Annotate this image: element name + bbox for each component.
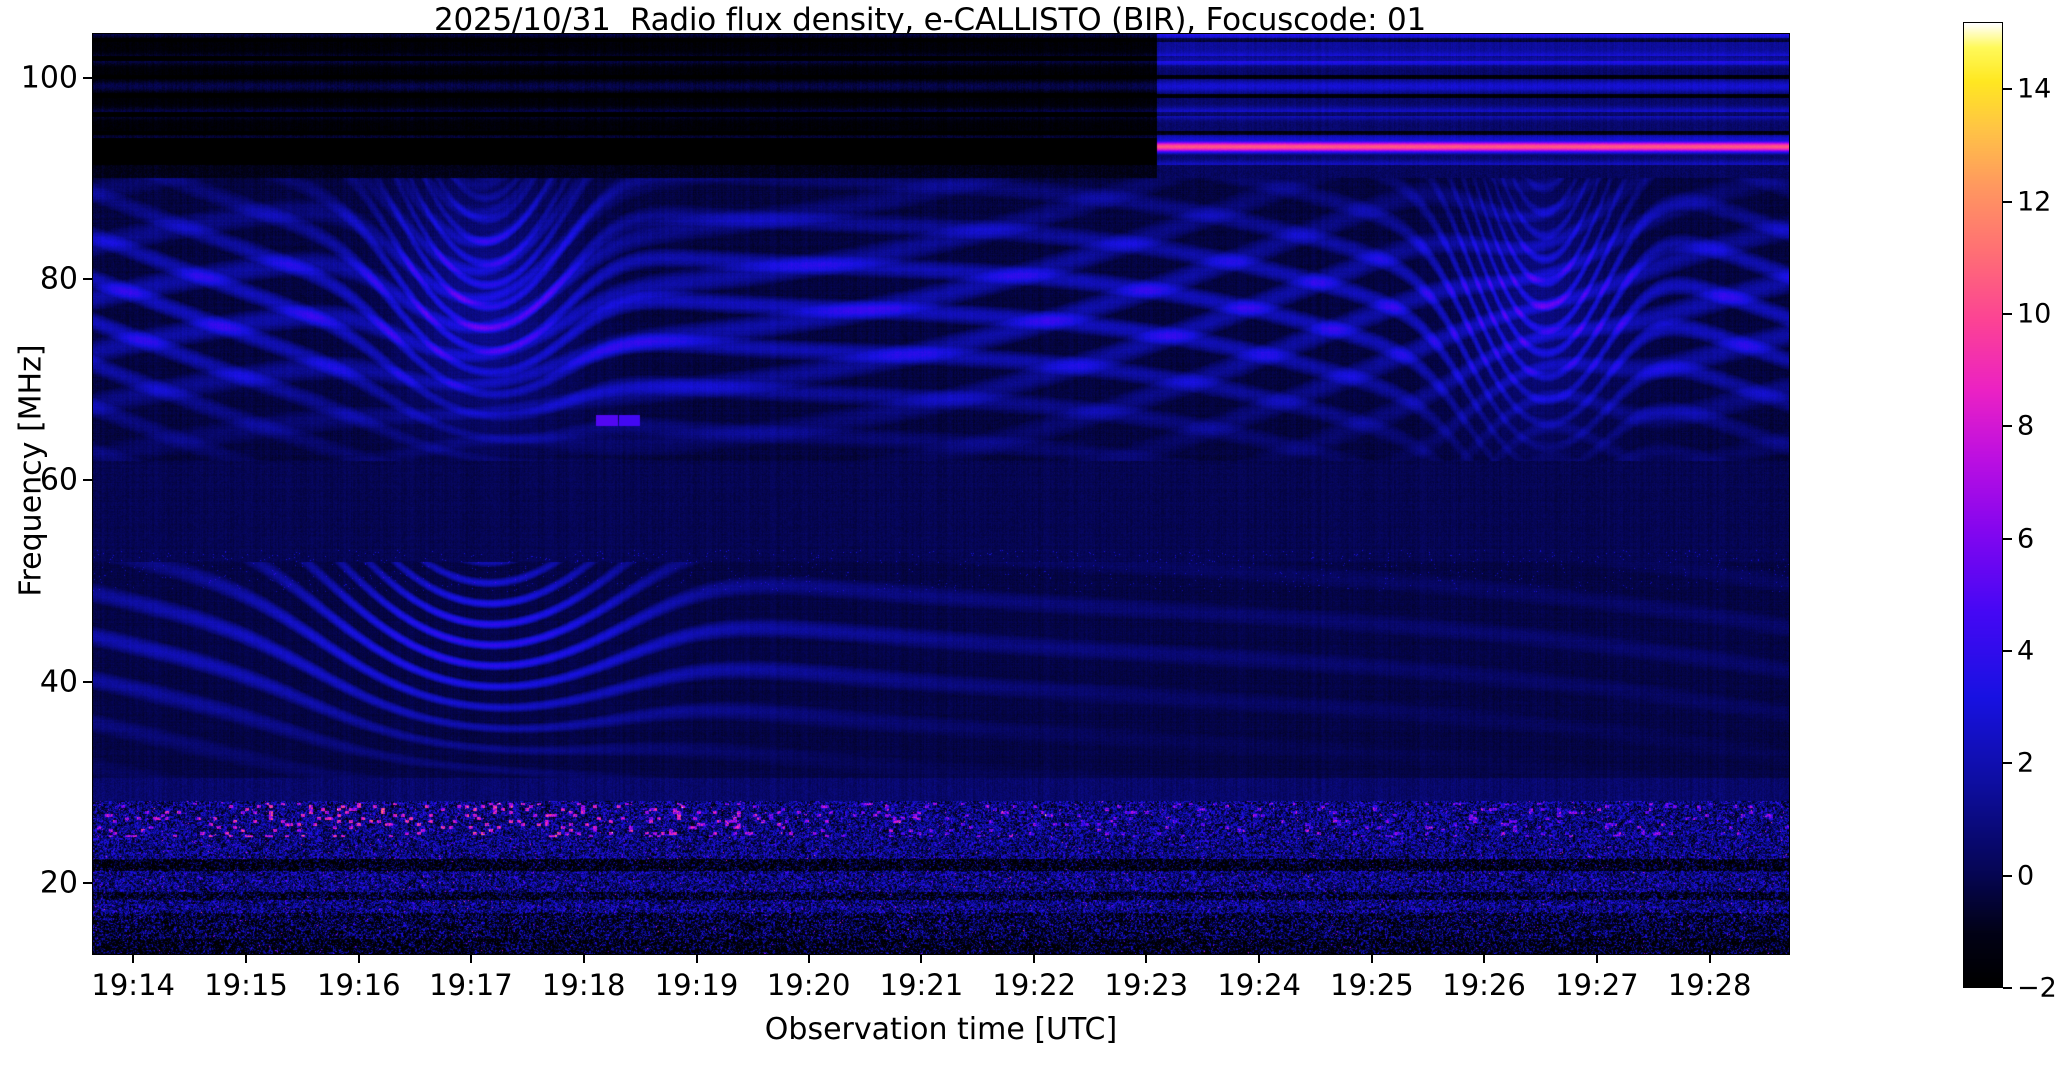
x-tick-label: 19:17 [429, 968, 513, 1002]
y-tick-mark [83, 278, 92, 280]
y-axis-label: Frequency [MHz] [14, 41, 49, 901]
x-tick-mark [1371, 954, 1373, 963]
y-tick-mark [83, 681, 92, 683]
x-tick-label: 19:20 [767, 968, 851, 1002]
x-tick-label: 19:18 [542, 968, 626, 1002]
x-tick-mark [1258, 954, 1260, 963]
x-tick-mark [808, 954, 810, 963]
spectrogram-image[interactable] [93, 34, 1789, 954]
colorbar-tick-mark [2003, 538, 2012, 540]
colorbar-tick-mark [2003, 875, 2012, 877]
colorbar-tick-mark [2003, 88, 2012, 90]
colorbar-tick-label: 6 [2017, 523, 2034, 554]
x-tick-label: 19:21 [880, 968, 964, 1002]
x-tick-label: 19:15 [204, 968, 288, 1002]
y-tick-mark [83, 882, 92, 884]
x-tick-mark [470, 954, 472, 963]
x-tick-mark [1145, 954, 1147, 963]
colorbar-tick-label: 10 [2017, 299, 2051, 330]
x-tick-mark [1033, 954, 1035, 963]
colorbar-tick-label: 12 [2017, 186, 2051, 217]
x-tick-mark [132, 954, 134, 963]
colorbar-tick-mark [2003, 201, 2012, 203]
x-tick-label: 19:26 [1442, 968, 1526, 1002]
colorbar-tick-label: 0 [2017, 860, 2034, 891]
x-tick-label: 19:25 [1330, 968, 1414, 1002]
x-tick-mark [1596, 954, 1598, 963]
x-tick-mark [583, 954, 585, 963]
x-tick-mark [1709, 954, 1711, 963]
colorbar-tick-label: 14 [2017, 74, 2051, 105]
colorbar-axis: 14121086420−2 [1963, 22, 2066, 988]
x-tick-mark [920, 954, 922, 963]
colorbar-tick-mark [2003, 987, 2012, 989]
figure-root: 2025/10/31 Radio flux density, e-CALLIST… [0, 0, 2066, 1067]
spectrogram-axes[interactable] [92, 33, 1790, 955]
x-tick-label: 19:22 [992, 968, 1076, 1002]
x-tick-label: 19:19 [655, 968, 739, 1002]
colorbar-tick-mark [2003, 650, 2012, 652]
colorbar-tick-mark [2003, 313, 2012, 315]
x-tick-label: 19:23 [1105, 968, 1189, 1002]
x-tick-mark [1483, 954, 1485, 963]
colorbar-tick-label: 4 [2017, 636, 2034, 667]
colorbar-tick-mark [2003, 425, 2012, 427]
y-tick-mark [83, 479, 92, 481]
x-tick-label: 19:28 [1668, 968, 1752, 1002]
x-axis: 19:1419:1519:1619:1719:1819:1919:2019:21… [92, 954, 1790, 1014]
x-tick-mark [696, 954, 698, 963]
x-tick-label: 19:16 [317, 968, 401, 1002]
x-tick-mark [358, 954, 360, 963]
x-tick-label: 19:24 [1217, 968, 1301, 1002]
colorbar-tick-label: −2 [2017, 973, 2057, 1004]
colorbar-tick-label: 2 [2017, 748, 2034, 779]
colorbar-tick-label: 8 [2017, 411, 2034, 442]
colorbar-tick-mark [2003, 762, 2012, 764]
x-tick-label: 19:14 [91, 968, 175, 1002]
x-tick-label: 19:27 [1555, 968, 1639, 1002]
x-tick-mark [245, 954, 247, 963]
y-tick-mark [83, 77, 92, 79]
x-axis-label: Observation time [UTC] [92, 1012, 1790, 1047]
